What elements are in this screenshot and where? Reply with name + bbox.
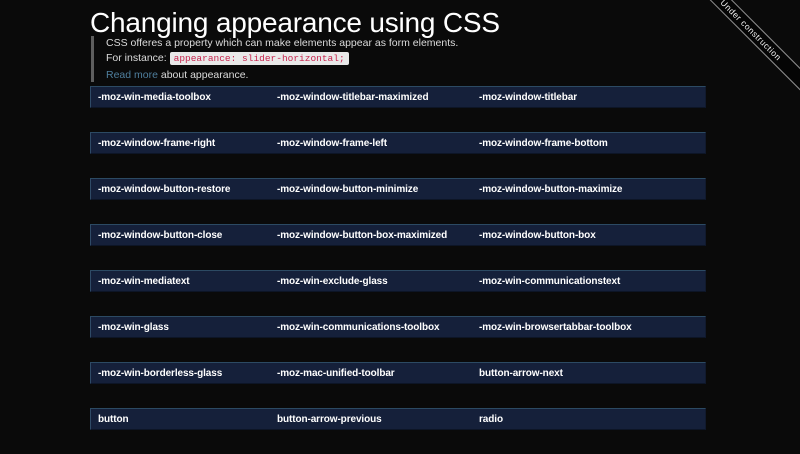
- appearance-row[interactable]: -moz-win-mediatext-moz-win-exclude-glass…: [90, 270, 706, 292]
- appearance-value[interactable]: button: [98, 409, 129, 431]
- appearance-value[interactable]: -moz-win-borderless-glass: [98, 363, 222, 385]
- appearance-value-list: -moz-win-media-toolbox-moz-window-titleb…: [90, 86, 706, 454]
- page-title: Changing appearance using CSS: [90, 6, 500, 40]
- appearance-value[interactable]: -moz-win-communications-toolbox: [277, 317, 439, 339]
- appearance-row[interactable]: buttonbutton-arrow-previousradio: [90, 408, 706, 430]
- appearance-value[interactable]: button-arrow-previous: [277, 409, 382, 431]
- appearance-value[interactable]: -moz-window-button-close: [98, 225, 222, 247]
- intro-readmore-line: Read more about appearance.: [106, 68, 458, 82]
- appearance-row[interactable]: -moz-window-button-restore-moz-window-bu…: [90, 178, 706, 200]
- page-root: Changing appearance using CSS CSS offere…: [0, 0, 800, 450]
- appearance-code-snippet: appearance: slider-horizontal;: [170, 52, 349, 65]
- appearance-value[interactable]: -moz-win-media-toolbox: [98, 87, 211, 109]
- appearance-value[interactable]: -moz-win-exclude-glass: [277, 271, 388, 293]
- appearance-value[interactable]: -moz-window-button-box-maximized: [277, 225, 447, 247]
- intro-description: CSS offeres a property which can make el…: [106, 36, 458, 50]
- appearance-row[interactable]: -moz-win-borderless-glass-moz-mac-unifie…: [90, 362, 706, 384]
- appearance-value[interactable]: -moz-window-titlebar-maximized: [277, 87, 428, 109]
- appearance-value[interactable]: -moz-win-communicationstext: [479, 271, 620, 293]
- appearance-value[interactable]: -moz-win-browsertabbar-toolbox: [479, 317, 632, 339]
- appearance-row[interactable]: -moz-win-glass-moz-win-communications-to…: [90, 316, 706, 338]
- intro-example-line: For instance: appearance: slider-horizon…: [106, 51, 458, 66]
- appearance-row[interactable]: -moz-win-media-toolbox-moz-window-titleb…: [90, 86, 706, 108]
- appearance-value[interactable]: -moz-window-button-maximize: [479, 179, 622, 201]
- appearance-value[interactable]: -moz-window-frame-bottom: [479, 133, 608, 155]
- appearance-value[interactable]: -moz-window-button-minimize: [277, 179, 418, 201]
- appearance-row[interactable]: -moz-window-frame-right-moz-window-frame…: [90, 132, 706, 154]
- appearance-value[interactable]: -moz-win-glass: [98, 317, 169, 339]
- appearance-value[interactable]: -moz-window-frame-right: [98, 133, 215, 155]
- appearance-value[interactable]: button-arrow-next: [479, 363, 563, 385]
- appearance-value[interactable]: -moz-window-button-box: [479, 225, 596, 247]
- intro-callout: CSS offeres a property which can make el…: [91, 36, 458, 82]
- appearance-row[interactable]: -moz-window-button-close-moz-window-butt…: [90, 224, 706, 246]
- appearance-value[interactable]: -moz-window-button-restore: [98, 179, 230, 201]
- appearance-value[interactable]: -moz-window-titlebar: [479, 87, 577, 109]
- intro-example-label: For instance:: [106, 52, 167, 64]
- appearance-value[interactable]: -moz-mac-unified-toolbar: [277, 363, 395, 385]
- appearance-value[interactable]: radio: [479, 409, 503, 431]
- read-more-link[interactable]: Read more: [106, 69, 158, 81]
- appearance-value[interactable]: -moz-window-frame-left: [277, 133, 387, 155]
- appearance-value[interactable]: -moz-win-mediatext: [98, 271, 190, 293]
- read-more-suffix: about appearance.: [161, 69, 249, 81]
